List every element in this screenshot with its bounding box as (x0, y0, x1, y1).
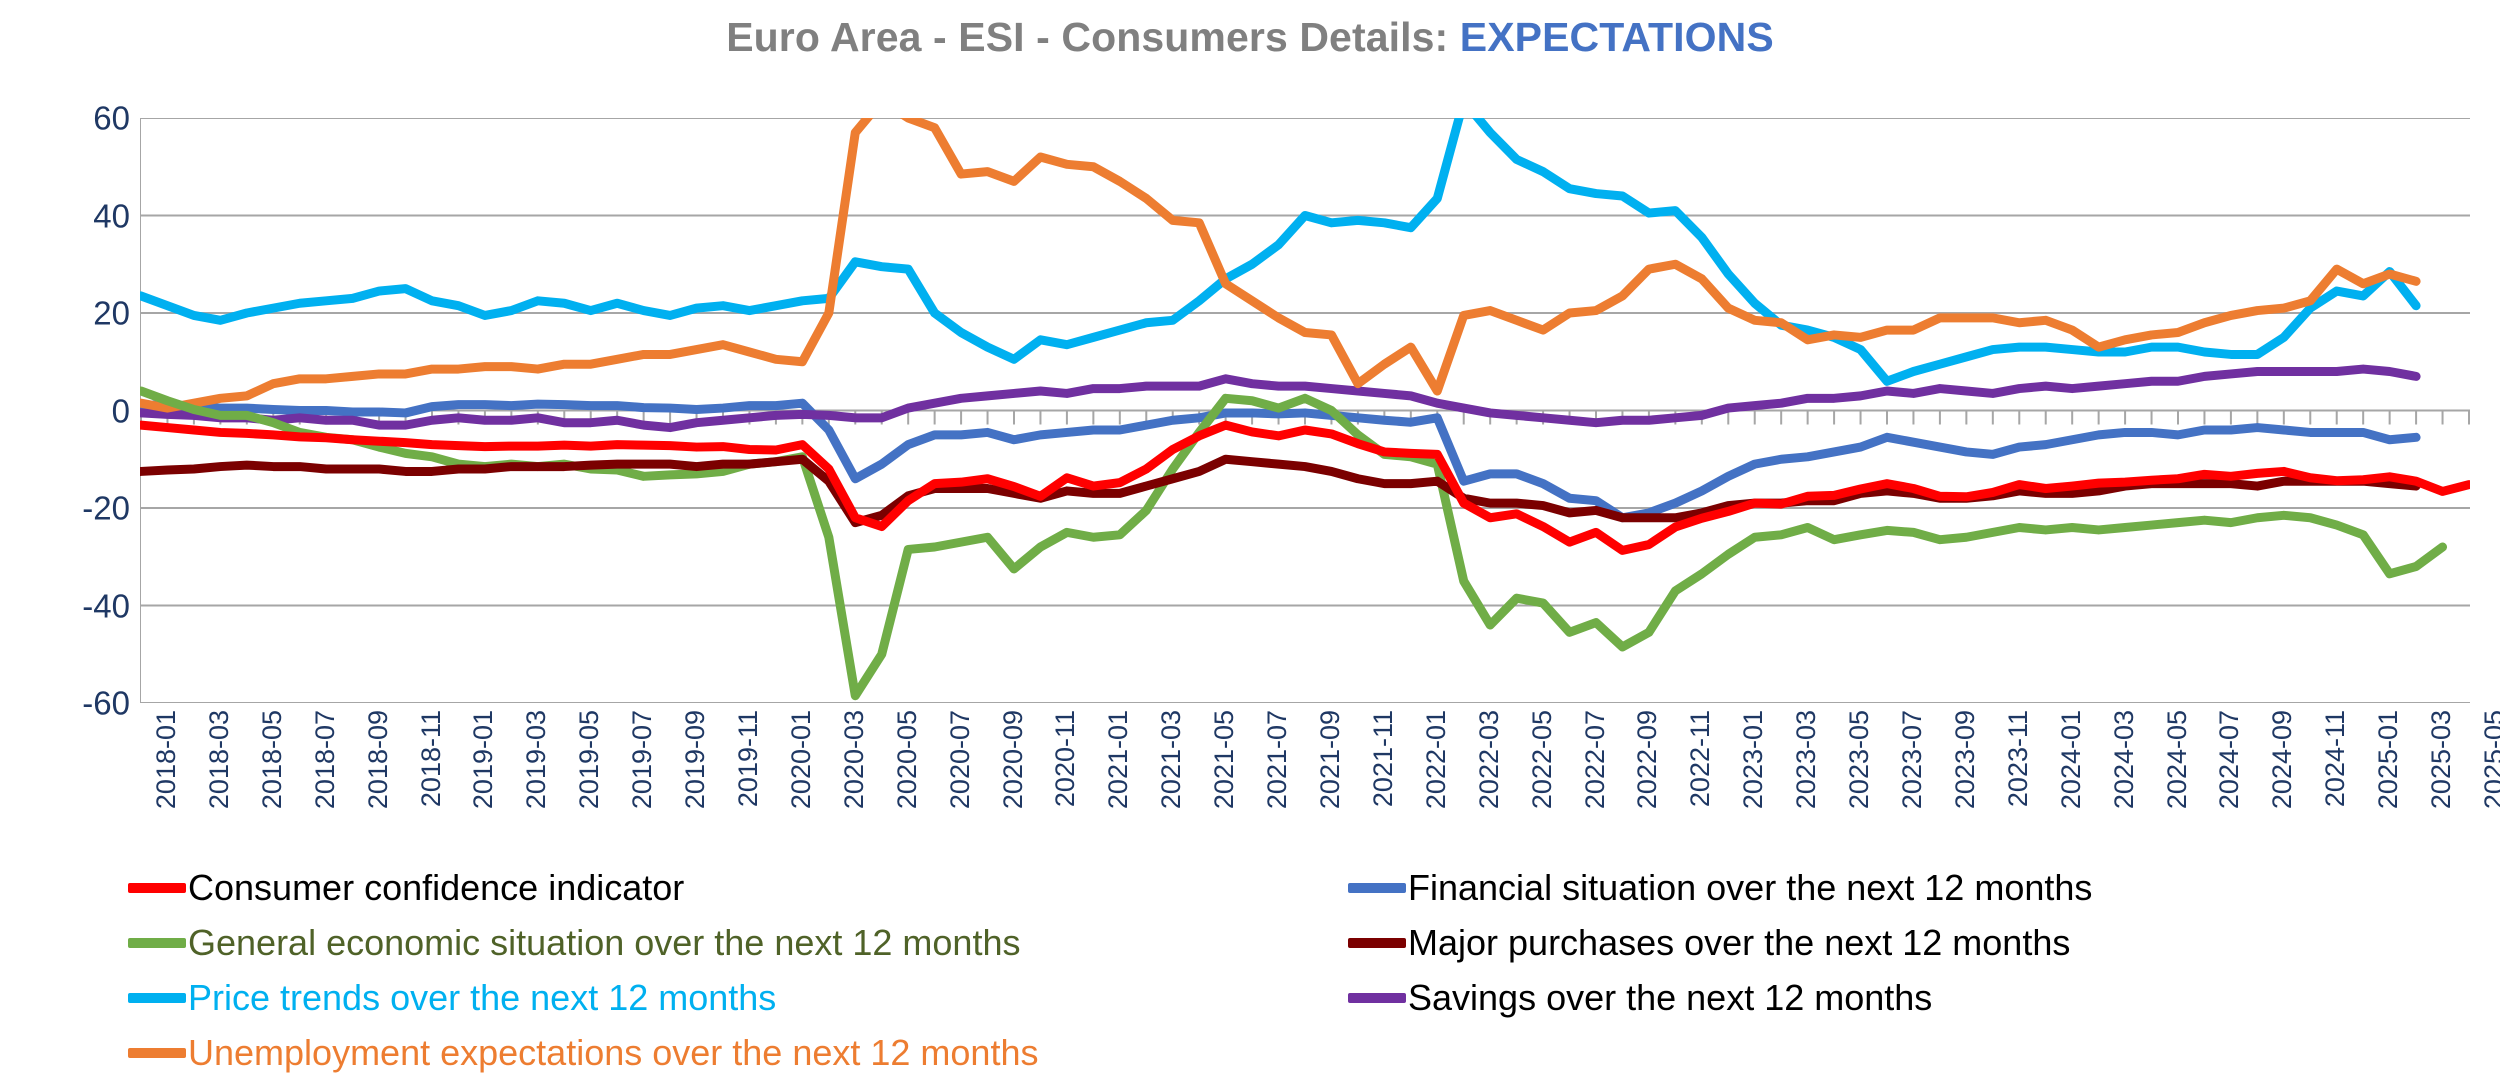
chart-title-highlight: EXPECTATIONS (1460, 14, 1774, 60)
legend-label: General economic situation over the next… (188, 925, 1020, 961)
series-line (141, 118, 2416, 408)
x-tick-label: 2019-05 (574, 710, 605, 809)
x-tick-label: 2021-09 (1315, 710, 1346, 809)
x-tick-label: 2022-09 (1632, 710, 1663, 809)
series-lines (141, 118, 2469, 696)
x-tick-label: 2018-09 (363, 710, 394, 809)
x-tick-label: 2019-01 (468, 710, 499, 809)
x-tick-label: 2019-07 (627, 710, 658, 809)
plot-area (140, 118, 2470, 703)
x-tick-label: 2018-01 (151, 710, 182, 809)
x-tick-label: 2024-11 (2320, 710, 2351, 807)
x-tick-label: 2024-07 (2214, 710, 2245, 809)
chart-title-main: Euro Area - ESI - Consumers Details: (726, 14, 1460, 60)
x-tick-label: 2022-01 (1421, 710, 1452, 809)
y-axis: 6040200-20-40-60 (22, 118, 130, 703)
x-tick-label: 2020-05 (892, 710, 923, 809)
x-tick-label: 2023-09 (1950, 710, 1981, 809)
x-tick-label: 2021-01 (1103, 710, 1134, 809)
x-tick-label: 2023-11 (2003, 710, 2034, 807)
legend-item[interactable]: Unemployment expectations over the next … (128, 1025, 1038, 1080)
series-line (141, 459, 2416, 522)
x-tick-label: 2024-05 (2162, 710, 2193, 809)
legend-item[interactable]: Financial situation over the next 12 mon… (1348, 860, 2092, 915)
x-tick-label: 2018-03 (204, 710, 235, 809)
x-tick-label: 2021-05 (1209, 710, 1240, 809)
x-tick-label: 2022-03 (1474, 710, 1505, 809)
series-line (141, 118, 2416, 381)
x-tick-label: 2019-03 (521, 710, 552, 809)
legend-color-swatch (128, 1048, 186, 1058)
x-tick-label: 2021-11 (1368, 710, 1399, 807)
x-tick-label: 2023-01 (1738, 710, 1769, 809)
x-tick-label: 2018-05 (257, 710, 288, 809)
x-tick-label: 2024-09 (2267, 710, 2298, 809)
legend-color-swatch (1348, 938, 1406, 948)
x-tick-label: 2023-07 (1897, 710, 1928, 809)
y-tick-label: -60 (34, 687, 130, 720)
legend-column-left: Consumer confidence indicatorGeneral eco… (128, 860, 1038, 1080)
chart-legend: Consumer confidence indicatorGeneral eco… (0, 860, 2500, 1060)
y-tick-label: 40 (34, 199, 130, 232)
x-tick-label: 2020-09 (998, 710, 1029, 809)
y-tick-label: 60 (34, 102, 130, 135)
x-tick-label: 2019-09 (680, 710, 711, 809)
legend-item[interactable]: Price trends over the next 12 months (128, 970, 1038, 1025)
legend-item[interactable]: Major purchases over the next 12 months (1348, 915, 2092, 970)
legend-item[interactable]: Consumer confidence indicator (128, 860, 1038, 915)
x-tick-label: 2023-05 (1844, 710, 1875, 809)
legend-color-swatch (1348, 993, 1406, 1003)
x-tick-label: 2024-03 (2109, 710, 2140, 809)
x-tick-label: 2025-01 (2373, 710, 2404, 809)
y-tick-label: -40 (34, 589, 130, 622)
y-tick-label: -20 (34, 492, 130, 525)
x-tick-label: 2025-05 (2479, 710, 2500, 809)
x-tick-label: 2020-01 (786, 710, 817, 809)
x-tick-label: 2024-01 (2056, 710, 2087, 809)
y-tick-label: 20 (34, 297, 130, 330)
legend-label: Consumer confidence indicator (188, 870, 684, 906)
x-tick-label: 2021-03 (1156, 710, 1187, 809)
x-tick-label: 2023-03 (1791, 710, 1822, 809)
legend-color-swatch (128, 993, 186, 1003)
x-tick-label: 2022-05 (1527, 710, 1558, 809)
x-axis: 2018-012018-032018-052018-072018-092018-… (140, 710, 2470, 850)
x-tick-label: 2022-07 (1580, 710, 1611, 809)
legend-column-right: Financial situation over the next 12 mon… (1348, 860, 2092, 1025)
legend-color-swatch (128, 938, 186, 948)
x-tick-label: 2020-07 (945, 710, 976, 809)
x-tick-label: 2020-03 (839, 710, 870, 809)
legend-label: Price trends over the next 12 months (188, 980, 776, 1016)
y-tick-label: 0 (34, 394, 130, 427)
plot-svg (140, 118, 2470, 703)
x-tick-label: 2021-07 (1262, 710, 1293, 809)
x-tick-label: 2025-03 (2426, 710, 2457, 809)
legend-item[interactable]: Savings over the next 12 months (1348, 970, 2092, 1025)
legend-color-swatch (128, 883, 186, 893)
x-tick-label: 2018-07 (310, 710, 341, 809)
legend-item[interactable]: General economic situation over the next… (128, 915, 1038, 970)
x-tick-label: 2022-11 (1685, 710, 1716, 807)
chart-title: Euro Area - ESI - Consumers Details: EXP… (0, 14, 2500, 61)
legend-label: Savings over the next 12 months (1408, 980, 1932, 1016)
legend-label: Unemployment expectations over the next … (188, 1035, 1038, 1071)
legend-color-swatch (1348, 883, 1406, 893)
x-tick-label: 2019-11 (733, 710, 764, 807)
x-tick-label: 2020-11 (1050, 710, 1081, 807)
legend-label: Major purchases over the next 12 months (1408, 925, 2070, 961)
x-tick-label: 2018-11 (416, 710, 447, 807)
chart-root: Euro Area - ESI - Consumers Details: EXP… (0, 0, 2500, 1075)
legend-label: Financial situation over the next 12 mon… (1408, 870, 2092, 906)
